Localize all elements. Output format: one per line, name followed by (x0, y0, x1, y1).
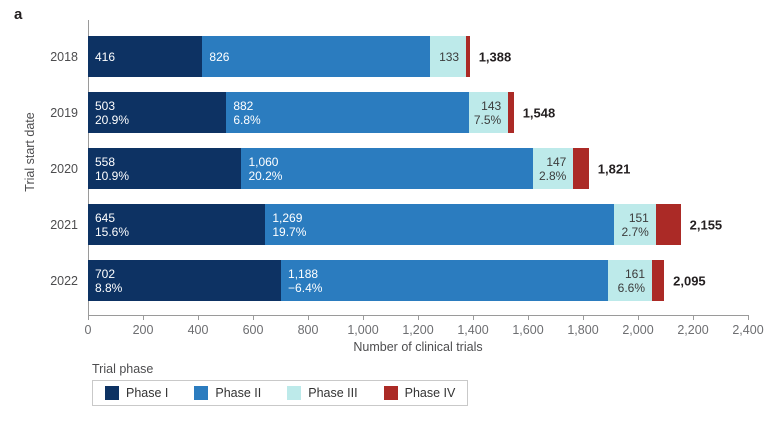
segment-value: 702 (95, 267, 122, 281)
y-tick-label-2021: 2021 (50, 218, 78, 232)
segment-label: 55810.9% (95, 155, 129, 183)
segment-value: 416 (95, 50, 115, 64)
segment-label: 1512.7% (622, 211, 649, 239)
legend-title: Trial phase (92, 362, 468, 376)
y-axis-title: Trial start date (23, 52, 37, 252)
x-tick (363, 315, 364, 320)
panel-letter: a (14, 6, 23, 23)
segment-label: 8826.8% (233, 99, 260, 127)
segment-value: 143 (474, 99, 501, 113)
x-tick-label: 1,400 (457, 323, 488, 337)
segment-value: 558 (95, 155, 129, 169)
x-tick (253, 315, 254, 320)
segment-label: 7028.8% (95, 267, 122, 295)
bar-segment-phase-iii[interactable]: 133 (430, 36, 467, 77)
segment-growth-pct: 2.8% (539, 169, 566, 183)
x-tick (583, 315, 584, 320)
segment-label: 826 (209, 50, 229, 64)
segment-label: 1616.6% (618, 267, 645, 295)
x-tick (88, 315, 89, 320)
legend-swatch-icon (194, 386, 208, 400)
segment-growth-pct: 6.6% (618, 281, 645, 295)
segment-label: 133 (439, 50, 459, 64)
segment-growth-pct: 20.2% (248, 169, 282, 183)
row-total-label: 1,388 (479, 49, 512, 64)
segment-label: 1472.8% (539, 155, 566, 183)
x-tick (693, 315, 694, 320)
x-tick-label: 2,200 (677, 323, 708, 337)
x-tick-label: 2,000 (622, 323, 653, 337)
legend-label: Phase I (126, 386, 168, 400)
x-tick-label: 2,400 (732, 323, 763, 337)
bar-segment-phase-i[interactable]: 50320.9% (88, 92, 226, 133)
y-tick-label-2019: 2019 (50, 106, 78, 120)
legend: Trial phase Phase IPhase IIPhase IIIPhas… (92, 362, 468, 406)
legend-item-phase-iv[interactable]: Phase IV (384, 386, 456, 400)
segment-value: 1,060 (248, 155, 282, 169)
segment-label: 1,06020.2% (248, 155, 282, 183)
segment-value: 1,269 (272, 211, 306, 225)
segment-value: 1,188 (288, 267, 322, 281)
x-tick-label: 400 (188, 323, 209, 337)
bar-segment-phase-ii[interactable]: 826 (202, 36, 429, 77)
legend-item-phase-iii[interactable]: Phase III (287, 386, 357, 400)
x-tick-label: 800 (298, 323, 319, 337)
segment-label: 1,26919.7% (272, 211, 306, 239)
x-axis-title: Number of clinical trials (88, 340, 748, 354)
bar-segment-phase-iv[interactable] (573, 148, 588, 189)
bar-segment-phase-iv[interactable] (508, 92, 514, 133)
bar-segment-phase-i[interactable]: 64515.6% (88, 204, 265, 245)
segment-label: 1,188−6.4% (288, 267, 322, 295)
bar-segment-phase-ii[interactable]: 1,188−6.4% (281, 260, 608, 301)
segment-growth-pct: 2.7% (622, 225, 649, 239)
x-tick-label: 1,600 (512, 323, 543, 337)
x-tick-label: 600 (243, 323, 264, 337)
segment-growth-pct: 20.9% (95, 113, 129, 127)
segment-label: 64515.6% (95, 211, 129, 239)
bar-segment-phase-iii[interactable]: 1437.5% (469, 92, 508, 133)
bar-segment-phase-ii[interactable]: 1,26919.7% (265, 204, 614, 245)
legend-item-phase-ii[interactable]: Phase II (194, 386, 261, 400)
x-tick (198, 315, 199, 320)
x-tick-label: 1,800 (567, 323, 598, 337)
x-tick (143, 315, 144, 320)
bar-segment-phase-iii[interactable]: 1472.8% (533, 148, 573, 189)
y-tick-label-2018: 2018 (50, 50, 78, 64)
segment-growth-pct: 8.8% (95, 281, 122, 295)
x-tick (638, 315, 639, 320)
x-tick-label: 1,200 (402, 323, 433, 337)
segment-value: 147 (539, 155, 566, 169)
segment-value: 882 (233, 99, 260, 113)
y-tick-label-2020: 2020 (50, 162, 78, 176)
x-tick (418, 315, 419, 320)
segment-value: 503 (95, 99, 129, 113)
bar-segment-phase-iii[interactable]: 1512.7% (614, 204, 656, 245)
legend-box: Phase IPhase IIPhase IIIPhase IV (92, 380, 468, 406)
segment-label: 1437.5% (474, 99, 501, 127)
x-tick (748, 315, 749, 320)
x-tick (308, 315, 309, 320)
bar-segment-phase-iii[interactable]: 1616.6% (608, 260, 652, 301)
bar-segment-phase-ii[interactable]: 8826.8% (226, 92, 469, 133)
segment-label: 50320.9% (95, 99, 129, 127)
bar-segment-phase-iv[interactable] (466, 36, 470, 77)
segment-value: 645 (95, 211, 129, 225)
figure-panel-a: a Trial start date 02004006008001,0001,2… (0, 0, 768, 428)
segment-value: 133 (439, 50, 459, 64)
row-total-label: 1,548 (523, 105, 556, 120)
segment-growth-pct: 15.6% (95, 225, 129, 239)
segment-value: 826 (209, 50, 229, 64)
legend-swatch-icon (384, 386, 398, 400)
x-tick (473, 315, 474, 320)
row-total-label: 2,095 (673, 273, 706, 288)
x-tick-label: 0 (85, 323, 92, 337)
x-tick (528, 315, 529, 320)
bar-segment-phase-i[interactable]: 416 (88, 36, 202, 77)
bar-segment-phase-i[interactable]: 7028.8% (88, 260, 281, 301)
segment-growth-pct: 7.5% (474, 113, 501, 127)
legend-swatch-icon (287, 386, 301, 400)
legend-item-phase-i[interactable]: Phase I (105, 386, 168, 400)
x-tick-label: 1,000 (347, 323, 378, 337)
segment-growth-pct: 19.7% (272, 225, 306, 239)
row-total-label: 2,155 (690, 217, 723, 232)
bar-segment-phase-iv[interactable] (656, 204, 681, 245)
segment-label: 416 (95, 50, 115, 64)
plot-area: 02004006008001,0001,2001,4001,6001,8002,… (88, 20, 748, 315)
legend-label: Phase IV (405, 386, 456, 400)
legend-label: Phase II (215, 386, 261, 400)
bar-segment-phase-ii[interactable]: 1,06020.2% (241, 148, 533, 189)
segment-growth-pct: 6.8% (233, 113, 260, 127)
segment-growth-pct: −6.4% (288, 281, 322, 295)
row-total-label: 1,821 (598, 161, 631, 176)
segment-growth-pct: 10.9% (95, 169, 129, 183)
bar-segment-phase-iv[interactable] (652, 260, 664, 301)
x-tick-label: 200 (133, 323, 154, 337)
segment-value: 151 (622, 211, 649, 225)
bar-segment-phase-i[interactable]: 55810.9% (88, 148, 241, 189)
legend-swatch-icon (105, 386, 119, 400)
y-tick-label-2022: 2022 (50, 274, 78, 288)
legend-label: Phase III (308, 386, 357, 400)
segment-value: 161 (618, 267, 645, 281)
